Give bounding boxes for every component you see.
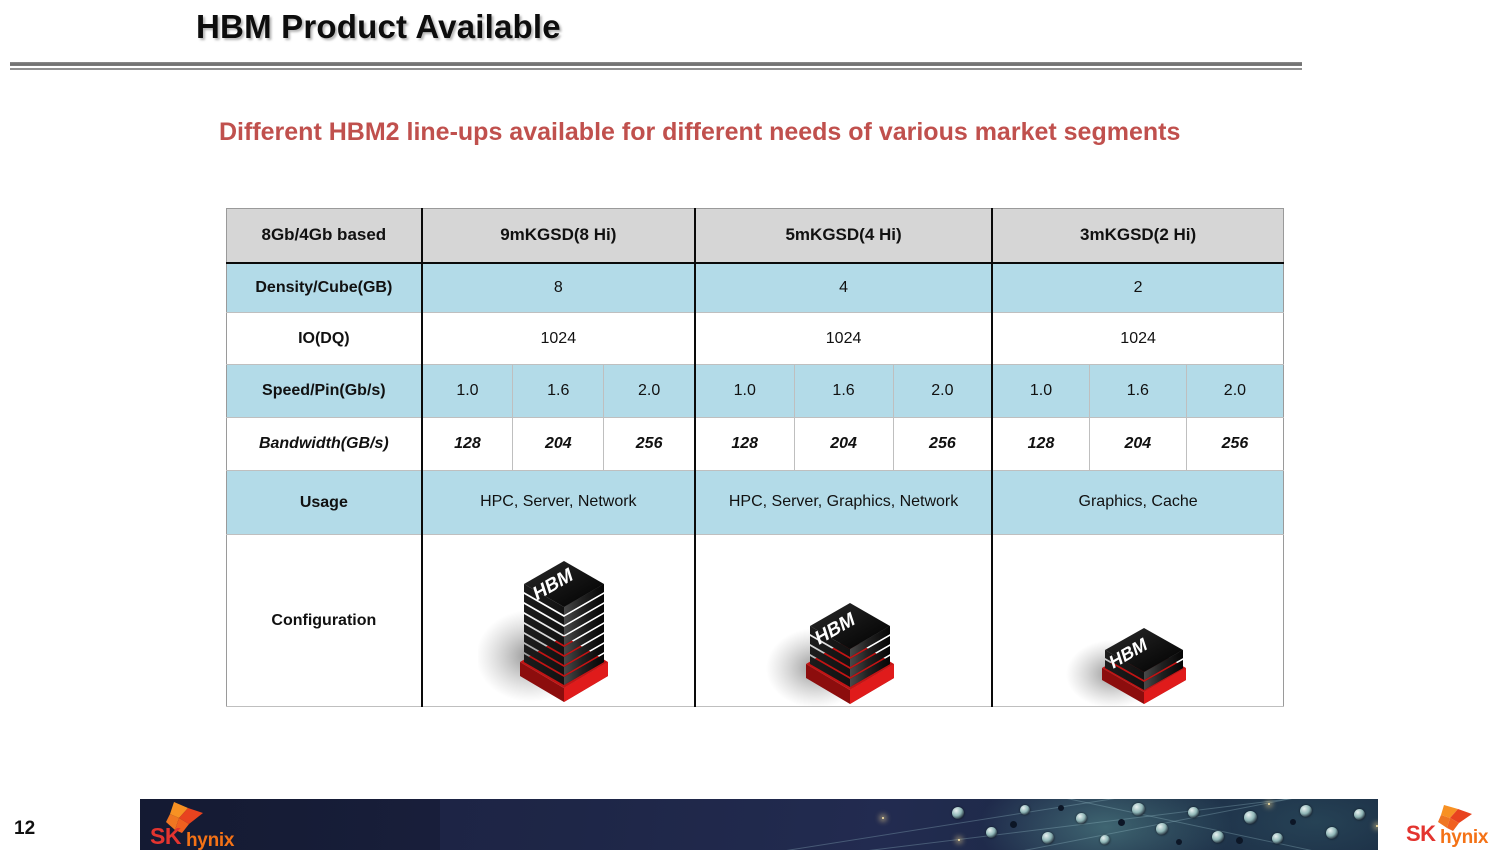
io-value-9mkgsd: 1024: [422, 313, 695, 365]
speed-value-8: 2.0: [1186, 365, 1283, 418]
hbm-stack-8hi-wrap: HBM: [425, 536, 692, 706]
bandwidth-value-7: 204: [1089, 418, 1186, 471]
table-row-io: IO(DQ) 1024 1024 1024: [227, 313, 1284, 365]
sk-hynix-corner-sk-text: SK: [1406, 821, 1436, 846]
bandwidth-value-2: 256: [604, 418, 695, 471]
table-header-row: 8Gb/4Gb based 9mKGSD(8 Hi) 5mKGSD(4 Hi) …: [227, 209, 1284, 263]
row-label-configuration: Configuration: [227, 535, 422, 707]
density-value-5mkgsd: 4: [695, 263, 992, 313]
hbm-stack-8hi-icon: HBM: [478, 536, 638, 706]
speed-value-1: 1.6: [513, 365, 604, 418]
density-value-3mkgsd: 2: [992, 263, 1283, 313]
speed-value-5: 2.0: [893, 365, 992, 418]
row-label-io: IO(DQ): [227, 313, 422, 365]
sk-hynix-logo-corner: SK hynix: [1400, 803, 1504, 847]
bandwidth-value-3: 128: [695, 418, 794, 471]
title-divider: [10, 62, 1302, 70]
bandwidth-value-0: 128: [422, 418, 513, 471]
row-label-bandwidth: Bandwidth(GB/s): [227, 418, 422, 471]
table-header-cell-9mkgsd: 9mKGSD(8 Hi): [422, 209, 695, 263]
row-label-density: Density/Cube(GB): [227, 263, 422, 313]
io-value-3mkgsd: 1024: [992, 313, 1283, 365]
table-row-usage: Usage HPC, Server, Network HPC, Server, …: [227, 471, 1284, 535]
page-number: 12: [14, 818, 35, 840]
table-header-cell-3mkgsd: 3mKGSD(2 Hi): [992, 209, 1283, 263]
usage-value-9mkgsd: HPC, Server, Network: [422, 471, 695, 535]
title-divider-thick: [10, 62, 1302, 66]
table-row-configuration: Configuration: [227, 535, 1284, 707]
speed-value-3: 1.0: [695, 365, 794, 418]
configuration-stack-5mkgsd: HBM: [695, 535, 992, 707]
bandwidth-value-4: 204: [794, 418, 893, 471]
hbm-spec-table: 8Gb/4Gb based 9mKGSD(8 Hi) 5mKGSD(4 Hi) …: [226, 208, 1284, 707]
speed-value-6: 1.0: [992, 365, 1089, 418]
table-row-density: Density/Cube(GB) 8 4 2: [227, 263, 1284, 313]
table-row-bandwidth: Bandwidth(GB/s) 128 204 256 128 204 256 …: [227, 418, 1284, 471]
sk-hynix-logo-sk-text: SK: [150, 823, 182, 849]
row-label-speed: Speed/Pin(Gb/s): [227, 365, 422, 418]
speed-value-2: 2.0: [604, 365, 695, 418]
sk-hynix-logo-hynix-text: hynix: [186, 830, 235, 850]
table-header-cell-5mkgsd: 5mKGSD(4 Hi): [695, 209, 992, 263]
row-label-usage: Usage: [227, 471, 422, 535]
bandwidth-value-6: 128: [992, 418, 1089, 471]
speed-value-4: 1.6: [794, 365, 893, 418]
usage-value-3mkgsd: Graphics, Cache: [992, 471, 1283, 535]
bandwidth-value-5: 256: [893, 418, 992, 471]
sk-hynix-logo-footer: SK hynix: [148, 800, 260, 850]
speed-value-0: 1.0: [422, 365, 513, 418]
table-header-cell-base: 8Gb/4Gb based: [227, 209, 422, 263]
io-value-5mkgsd: 1024: [695, 313, 992, 365]
sk-hynix-corner-hynix-text: hynix: [1440, 827, 1489, 847]
hbm-stack-2hi-wrap: HBM: [995, 536, 1281, 706]
hbm-stack-4hi-icon: HBM: [764, 556, 924, 706]
slide-subtitle: Different HBM2 line-ups available for di…: [219, 118, 1180, 147]
usage-value-5mkgsd: HPC, Server, Graphics, Network: [695, 471, 992, 535]
table-row-speed: Speed/Pin(Gb/s) 1.0 1.6 2.0 1.0 1.6 2.0 …: [227, 365, 1284, 418]
page-title: HBM Product Available: [196, 8, 561, 46]
bandwidth-value-8: 256: [1186, 418, 1283, 471]
bandwidth-value-1: 204: [513, 418, 604, 471]
hbm-stack-2hi-icon: HBM: [1058, 576, 1218, 706]
title-divider-thin: [10, 68, 1302, 70]
hbm-stack-4hi-wrap: HBM: [698, 536, 989, 706]
speed-value-7: 1.6: [1089, 365, 1186, 418]
configuration-stack-3mkgsd: HBM: [992, 535, 1283, 707]
density-value-9mkgsd: 8: [422, 263, 695, 313]
configuration-stack-9mkgsd: HBM: [422, 535, 695, 707]
footer-banner: [140, 799, 1378, 850]
